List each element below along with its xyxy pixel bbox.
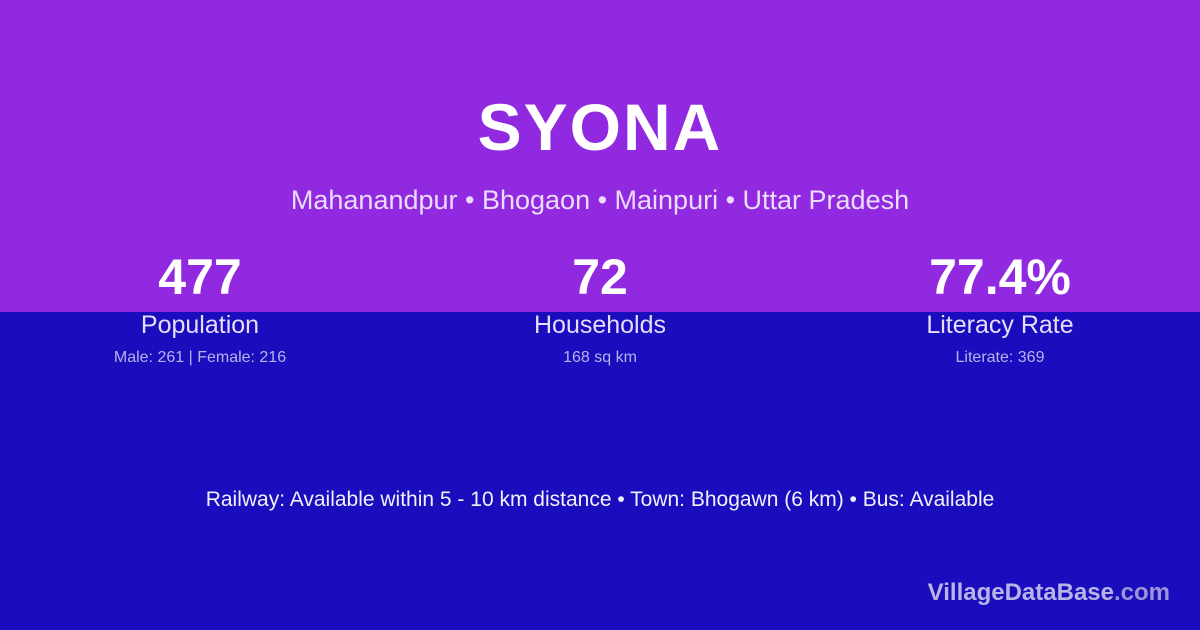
stat-label: Population bbox=[0, 309, 400, 341]
stat-literacy-rate: 77.4% Literacy Rate Literate: 369 bbox=[800, 248, 1200, 369]
stat-population: 477 Population Male: 261 | Female: 216 bbox=[0, 248, 400, 369]
site-brand: VillageDataBase.com bbox=[928, 578, 1170, 608]
stat-sublabel: Male: 261 | Female: 216 bbox=[0, 347, 400, 369]
stat-sublabel: 168 sq km bbox=[400, 347, 800, 369]
breadcrumb: Mahanandpur • Bhogaon • Mainpuri • Uttar… bbox=[0, 182, 1200, 218]
stats-row: 477 Population Male: 261 | Female: 216 7… bbox=[0, 248, 1200, 369]
stat-label: Households bbox=[400, 309, 800, 341]
stat-label: Literacy Rate bbox=[800, 309, 1200, 341]
village-info-card: SYONA Mahanandpur • Bhogaon • Mainpuri •… bbox=[0, 0, 1200, 630]
stat-value: 477 bbox=[0, 248, 400, 306]
page-title: SYONA bbox=[0, 88, 1200, 166]
stat-value: 72 bbox=[400, 248, 800, 306]
stat-households: 72 Households 168 sq km bbox=[400, 248, 800, 369]
brand-suffix: .com bbox=[1114, 579, 1170, 606]
stat-value: 77.4% bbox=[800, 248, 1200, 306]
brand-name: VillageDataBase bbox=[928, 579, 1114, 606]
stat-sublabel: Literate: 369 bbox=[800, 347, 1200, 369]
facilities-line: Railway: Available within 5 - 10 km dist… bbox=[0, 486, 1200, 514]
